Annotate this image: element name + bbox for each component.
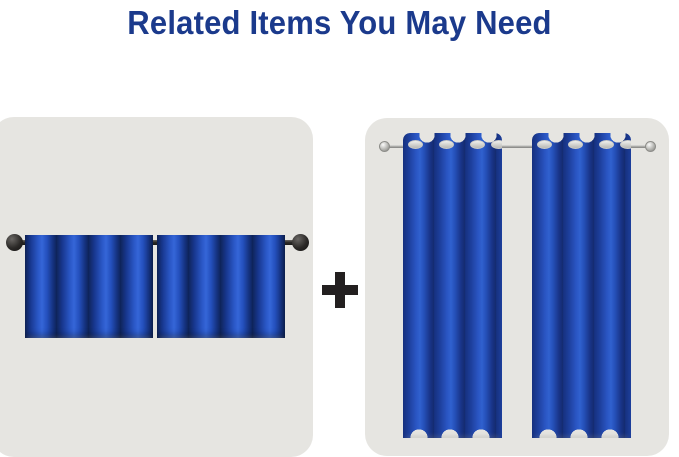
page-title: Related Items You May Need — [20, 4, 658, 42]
drape-hem-shadow — [406, 436, 499, 438]
tier-valance-product-image — [0, 190, 313, 360]
valance-fabric — [157, 235, 285, 338]
valance-rod-pocket-ruffle — [25, 226, 153, 242]
drape-fabric — [532, 133, 631, 438]
plus-separator-icon — [322, 272, 358, 308]
grommet-ring-icon — [620, 140, 631, 149]
rod-finial-right-icon — [645, 141, 656, 152]
plus-vertical-bar — [335, 272, 345, 308]
valance-hem-shadow — [27, 337, 151, 338]
rod-finial-right-icon — [292, 234, 309, 251]
grommet-ring-icon — [537, 140, 552, 149]
grommet-ring-icon — [568, 140, 583, 149]
valance-rod-pocket-ruffle — [157, 226, 285, 242]
drape-panel-right — [532, 133, 631, 438]
blackout-drape-product-image — [365, 118, 669, 456]
grommet-ring-icon — [470, 140, 485, 149]
grommet-ring-icon — [599, 140, 614, 149]
drape-hem-shadow — [535, 436, 628, 438]
grommet-ring-icon — [439, 140, 454, 149]
valance-panel-left — [25, 226, 153, 338]
valance-panel-right — [157, 226, 285, 338]
rod-finial-left-icon — [379, 141, 390, 152]
grommet-ring-icon — [408, 140, 423, 149]
valance-hem-shadow — [159, 337, 283, 338]
drape-fabric — [403, 133, 502, 438]
valance-fabric — [25, 235, 153, 338]
drape-panel-left — [403, 133, 502, 438]
grommet-ring-icon — [491, 140, 502, 149]
rod-finial-left-icon — [6, 234, 23, 251]
